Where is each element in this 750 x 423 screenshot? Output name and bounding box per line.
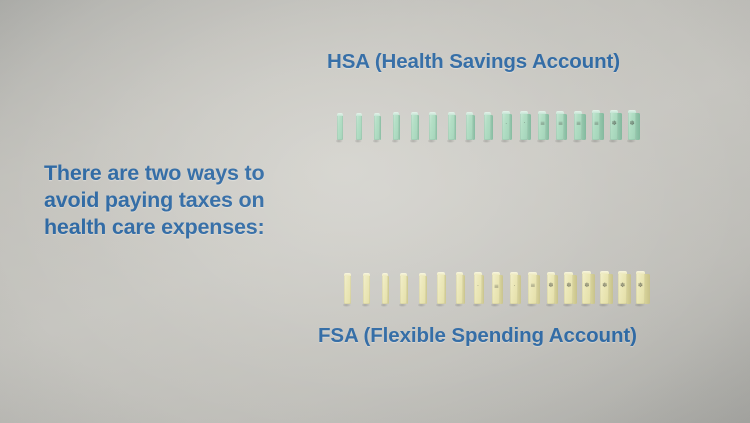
pill-top-face bbox=[429, 112, 436, 115]
pill-block: ✽ bbox=[564, 274, 572, 305]
pill-top-face bbox=[564, 272, 572, 275]
pill-front-face bbox=[382, 275, 389, 304]
pill-front-face bbox=[363, 275, 370, 304]
pill-side-face bbox=[473, 115, 475, 140]
pill-side-face bbox=[388, 276, 389, 304]
pill-front-face bbox=[400, 275, 407, 304]
pill-imprint-mark: · bbox=[514, 284, 515, 290]
pill-side-face bbox=[627, 274, 632, 304]
pill-block bbox=[400, 275, 407, 304]
pill-block bbox=[456, 274, 464, 304]
pill-side-face bbox=[591, 274, 595, 304]
pill-block: · bbox=[510, 274, 518, 304]
pill-front-face: · bbox=[520, 113, 528, 140]
pill-top-face bbox=[411, 112, 418, 115]
pill-imprint-mark: ✽ bbox=[602, 283, 607, 289]
pill-front-face bbox=[448, 114, 455, 140]
pill-top-face bbox=[547, 272, 555, 275]
pill-front-face: ≡ bbox=[492, 274, 500, 304]
pill-imprint-mark: ✽ bbox=[638, 283, 643, 289]
pill-block bbox=[356, 115, 362, 140]
pill-block: ≡ bbox=[556, 113, 564, 140]
pill-block: ≡ bbox=[492, 274, 500, 304]
pill-front-face bbox=[456, 274, 464, 304]
lead-text: There are two ways to avoid paying taxes… bbox=[44, 160, 324, 241]
pill-side-face bbox=[518, 275, 521, 304]
pill-side-face bbox=[618, 113, 622, 140]
pill-side-face bbox=[491, 115, 493, 141]
fsa-object-row: ·≡·≡✽✽✽✽✽✽ bbox=[344, 266, 653, 304]
pill-imprint-mark: ✽ bbox=[548, 283, 553, 289]
pill-side-face bbox=[645, 274, 650, 304]
pill-top-face bbox=[502, 111, 509, 114]
hsa-object-row: ··≡≡≡≡✽✽ bbox=[337, 106, 645, 140]
pill-top-face bbox=[510, 272, 518, 275]
pill-side-face bbox=[463, 275, 465, 304]
pill-block bbox=[337, 115, 343, 140]
pill-top-face bbox=[628, 110, 637, 113]
pill-block: ≡ bbox=[528, 274, 536, 304]
pill-side-face bbox=[455, 115, 457, 140]
pill-top-face bbox=[363, 273, 370, 276]
pill-imprint-mark: · bbox=[523, 121, 524, 127]
pill-imprint-mark: ✽ bbox=[612, 121, 617, 127]
pill-top-face bbox=[492, 272, 500, 275]
pill-top-face bbox=[636, 271, 645, 274]
pill-block: ✽ bbox=[582, 273, 591, 304]
pill-front-face: ✽ bbox=[600, 273, 609, 304]
pill-block: ✽ bbox=[628, 112, 637, 140]
pill-imprint-mark: ✽ bbox=[630, 121, 635, 127]
pill-block: · bbox=[502, 113, 509, 140]
pill-front-face bbox=[411, 114, 418, 140]
pill-front-face bbox=[337, 115, 343, 140]
pill-top-face bbox=[528, 272, 536, 275]
pill-top-face bbox=[456, 272, 464, 275]
pill-front-face: ✽ bbox=[618, 273, 627, 304]
pill-side-face bbox=[482, 275, 484, 304]
pill-side-face bbox=[418, 115, 419, 140]
pill-side-face bbox=[500, 275, 503, 304]
pill-top-face bbox=[344, 273, 351, 276]
pill-front-face: ✽ bbox=[610, 112, 618, 140]
pill-front-face bbox=[437, 274, 444, 304]
pill-block bbox=[484, 114, 491, 141]
pill-top-face bbox=[437, 272, 444, 275]
pill-block: ✽ bbox=[618, 273, 627, 304]
pill-front-face: ✽ bbox=[564, 274, 572, 305]
pill-imprint-mark: ≡ bbox=[540, 121, 545, 127]
pill-imprint-mark: ✽ bbox=[566, 283, 571, 289]
pill-block: ✽ bbox=[610, 112, 618, 140]
pill-side-face bbox=[380, 116, 381, 140]
pill-side-face bbox=[600, 113, 604, 140]
pill-side-face bbox=[609, 274, 613, 304]
pill-front-face bbox=[344, 275, 351, 304]
pill-top-face bbox=[600, 271, 609, 274]
pill-block: · bbox=[474, 274, 482, 304]
pill-front-face: ≡ bbox=[592, 112, 600, 140]
pill-block: · bbox=[520, 113, 528, 140]
pill-block: ≡ bbox=[538, 113, 546, 140]
pill-imprint-mark: ≡ bbox=[576, 121, 581, 127]
pill-block: ≡ bbox=[574, 113, 582, 140]
pill-block: ≡ bbox=[592, 112, 600, 140]
pill-top-face bbox=[610, 110, 618, 113]
pill-imprint-mark: ≡ bbox=[558, 121, 563, 127]
pill-imprint-mark: · bbox=[477, 284, 478, 290]
pill-block bbox=[437, 274, 444, 304]
pill-side-face bbox=[555, 275, 558, 304]
pill-side-face bbox=[510, 114, 512, 140]
pill-front-face: ✽ bbox=[636, 273, 645, 304]
pill-block bbox=[363, 275, 370, 304]
pill-top-face bbox=[484, 112, 491, 115]
pill-top-face bbox=[419, 273, 426, 276]
pill-top-face bbox=[556, 111, 564, 114]
pill-top-face bbox=[592, 110, 600, 113]
pill-front-face: ≡ bbox=[538, 113, 546, 140]
pill-imprint-mark: ✽ bbox=[584, 283, 589, 289]
pill-block bbox=[419, 275, 426, 305]
pill-front-face: ✽ bbox=[628, 112, 637, 140]
pill-block bbox=[411, 114, 418, 140]
pill-block: ✽ bbox=[636, 273, 645, 304]
pill-top-face bbox=[618, 271, 627, 274]
pill-imprint-mark: ✽ bbox=[620, 283, 625, 289]
pill-top-face bbox=[574, 111, 582, 114]
pill-front-face: · bbox=[502, 113, 509, 140]
pill-side-face bbox=[636, 113, 640, 140]
pill-front-face bbox=[484, 114, 491, 141]
pill-top-face bbox=[582, 271, 591, 274]
pill-imprint-mark: ≡ bbox=[494, 284, 499, 290]
pill-top-face bbox=[400, 273, 407, 276]
pill-side-face bbox=[582, 114, 585, 140]
pill-block bbox=[382, 275, 389, 304]
pill-block bbox=[393, 114, 399, 140]
pill-top-face bbox=[474, 272, 482, 275]
pill-side-face bbox=[573, 275, 577, 305]
pill-top-face bbox=[337, 113, 343, 116]
pill-side-face bbox=[537, 275, 540, 304]
pill-side-face bbox=[426, 276, 427, 305]
pill-block bbox=[466, 114, 473, 140]
pill-top-face bbox=[520, 111, 528, 114]
pill-side-face bbox=[564, 114, 567, 140]
photo-scene: HSA (Health Savings Account) ··≡≡≡≡✽✽ Th… bbox=[0, 0, 750, 423]
pill-front-face bbox=[466, 114, 473, 140]
pill-block bbox=[429, 114, 436, 140]
pill-front-face: · bbox=[510, 274, 518, 304]
pill-side-face bbox=[445, 275, 447, 304]
pill-imprint-mark: ≡ bbox=[530, 283, 535, 289]
pill-front-face: ≡ bbox=[528, 274, 536, 304]
hsa-title: HSA (Health Savings Account) bbox=[327, 50, 620, 74]
pill-top-face bbox=[538, 111, 546, 114]
pill-side-face bbox=[399, 115, 400, 140]
pill-block bbox=[374, 115, 380, 140]
pill-imprint-mark: ≡ bbox=[594, 121, 599, 127]
lead-text-line-1: There are two ways to bbox=[44, 160, 324, 187]
pill-front-face: · bbox=[474, 274, 482, 304]
pill-top-face bbox=[356, 113, 362, 116]
pill-front-face: ≡ bbox=[556, 113, 564, 140]
pill-block: ✽ bbox=[547, 274, 555, 304]
pill-block bbox=[448, 114, 455, 140]
pill-front-face: ≡ bbox=[574, 113, 582, 140]
pill-block bbox=[344, 275, 351, 304]
pill-side-face bbox=[407, 276, 408, 304]
pill-front-face bbox=[419, 275, 426, 305]
pill-front-face bbox=[356, 115, 362, 140]
pill-imprint-mark: · bbox=[505, 122, 506, 128]
pill-front-face: ✽ bbox=[547, 274, 555, 304]
fsa-title: FSA (Flexible Spending Account) bbox=[318, 324, 637, 348]
pill-front-face: ✽ bbox=[582, 273, 591, 304]
pill-side-face bbox=[546, 114, 549, 140]
lead-text-line-3: health care expenses: bbox=[44, 214, 324, 241]
pill-side-face bbox=[436, 115, 437, 140]
pill-front-face bbox=[429, 114, 436, 140]
pill-top-face bbox=[448, 112, 455, 115]
lead-text-line-2: avoid paying taxes on bbox=[44, 187, 324, 214]
pill-side-face bbox=[528, 114, 531, 140]
pill-top-face bbox=[382, 273, 389, 276]
pill-block: ✽ bbox=[600, 273, 609, 304]
pill-top-face bbox=[466, 112, 473, 115]
